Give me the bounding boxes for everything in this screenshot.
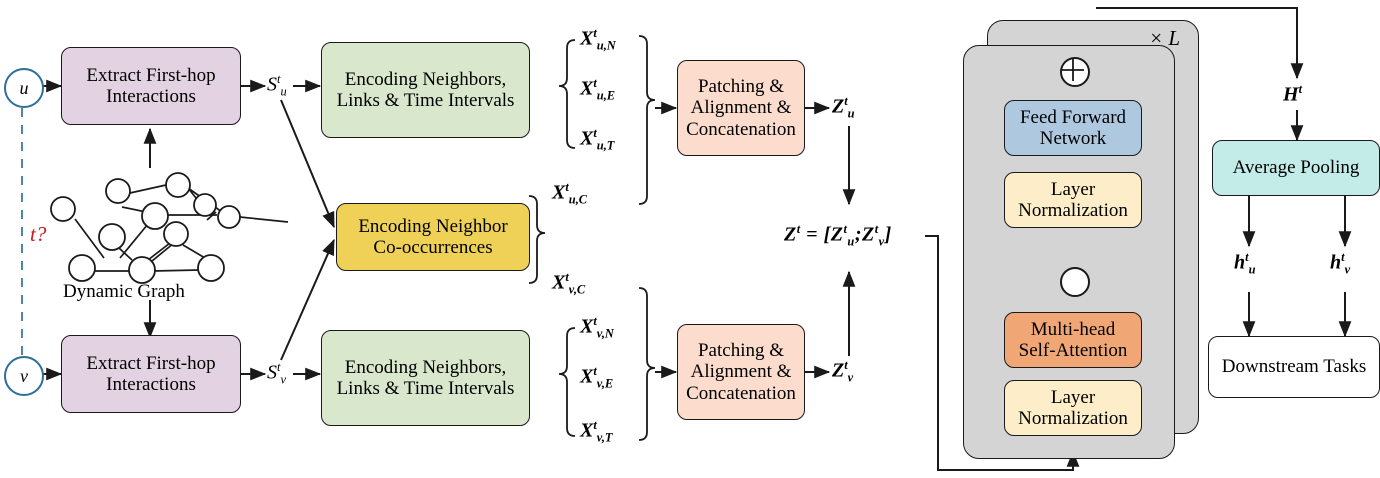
feature-x-u-t-symbol: X [580, 128, 593, 150]
s-u-label: Stu [267, 72, 287, 100]
node-v: v [4, 356, 44, 396]
feature-x-u-c: Xtu,C [552, 180, 587, 208]
feature-x-u-c-symbol: X [552, 182, 565, 204]
h-output-symbol: H [1283, 84, 1299, 106]
extract-first-hop-u-box[interactable]: Extract First-hop Interactions [61, 47, 241, 125]
encoding-cooccurrences-box[interactable]: Encoding Neighbor Co-occurrences [336, 203, 530, 271]
layer-normalization-bottom-label: Layer Normalization [1005, 387, 1141, 430]
time-query-label: t? [30, 222, 46, 247]
encoding-neighbors-u-box[interactable]: Encoding Neighbors, Links & Time Interva… [321, 42, 530, 138]
feature-x-v-c-symbol: X [552, 272, 565, 294]
node-u-label: u [20, 78, 29, 99]
feature-x-v-c: Xtv,C [552, 270, 585, 298]
feature-x-u-n: Xtu,N [580, 26, 616, 54]
s-v-label: Stv [267, 360, 286, 388]
layer-normalization-bottom-box[interactable]: Layer Normalization [1004, 380, 1142, 436]
architecture-diagram: u v t? Dynamic Graph Extract First-hop I… [0, 0, 1380, 478]
h-v-label: htv [1330, 250, 1350, 278]
z-concat-zv: Z [862, 224, 875, 246]
z-concat-expression: Zt = [Ztu;Ztv] [784, 222, 892, 250]
patching-u-label: Patching & Alignment & Concatenation [678, 76, 804, 140]
dynamic-graph-caption: Dynamic Graph [63, 281, 185, 303]
feature-x-v-n: Xtv,N [580, 314, 614, 342]
transformer-repeat-label: × L [1149, 26, 1180, 51]
z-concat-zu: Z [831, 224, 844, 246]
feature-x-v-c-sub: v,C [569, 283, 585, 297]
extract-first-hop-v-box[interactable]: Extract First-hop Interactions [61, 335, 241, 413]
z-u-label: Ztu [832, 94, 855, 122]
feature-x-v-t-sub: v,T [597, 431, 613, 445]
z-v-sub: v [848, 371, 854, 385]
feature-x-v-t-symbol: X [580, 420, 593, 442]
dynamic-graph-edges [75, 185, 288, 271]
encoding-neighbors-u-label: Encoding Neighbors, Links & Time Interva… [322, 69, 529, 112]
multi-head-self-attention-label: Multi-head Self-Attention [1005, 319, 1141, 362]
patching-alignment-u-box[interactable]: Patching & Alignment & Concatenation [677, 60, 805, 156]
s-u-sub: u [280, 85, 286, 99]
z-concat-semi: ; [855, 224, 862, 246]
feature-x-u-e: Xtu,E [580, 76, 615, 104]
s-v-sub: v [280, 373, 286, 387]
feature-x-u-e-symbol: X [580, 78, 593, 100]
feed-forward-network-label: Feed Forward Network [1005, 107, 1141, 150]
extract-first-hop-v-label: Extract First-hop Interactions [62, 353, 240, 396]
feature-x-v-n-sub: v,N [597, 327, 614, 341]
multi-head-self-attention-box[interactable]: Multi-head Self-Attention [1004, 312, 1142, 368]
encoding-neighbors-v-box[interactable]: Encoding Neighbors, Links & Time Interva… [321, 330, 530, 426]
h-u-symbol: h [1234, 252, 1245, 274]
feature-x-v-e-symbol: X [580, 366, 593, 388]
average-pooling-label: Average Pooling [1227, 157, 1366, 178]
feature-x-v-t: Xtv,T [580, 418, 613, 446]
patching-v-label: Patching & Alignment & Concatenation [678, 340, 804, 404]
downstream-tasks-box[interactable]: Downstream Tasks [1208, 336, 1380, 398]
h-output-sup: t [1299, 82, 1302, 96]
average-pooling-box[interactable]: Average Pooling [1212, 140, 1380, 196]
z-v-symbol: Z [832, 360, 844, 382]
z-concat-sup: t [797, 222, 801, 236]
feature-x-v-e: Xtv,E [580, 364, 613, 392]
node-v-label: v [20, 366, 28, 387]
patching-alignment-v-box[interactable]: Patching & Alignment & Concatenation [677, 324, 805, 420]
z-u-symbol: Z [832, 96, 844, 118]
h-u-label: htu [1234, 250, 1255, 278]
feature-x-u-e-sub: u,E [597, 89, 615, 103]
z-concat-bracket: ] [885, 224, 892, 246]
z-concat-z: Z [784, 224, 797, 246]
residual-add-lower-icon [1060, 267, 1090, 297]
extract-first-hop-u-label: Extract First-hop Interactions [62, 65, 240, 108]
h-output-label: Ht [1283, 82, 1302, 107]
feature-x-u-t: Xtu,T [580, 126, 614, 154]
feed-forward-network-box[interactable]: Feed Forward Network [1004, 100, 1142, 156]
encoding-cooccurrences-label: Encoding Neighbor Co-occurrences [337, 216, 529, 259]
feature-x-u-n-sub: u,N [597, 39, 616, 53]
layer-normalization-top-box[interactable]: Layer Normalization [1004, 172, 1142, 228]
feature-x-u-c-sub: u,C [569, 193, 587, 207]
h-v-symbol: h [1330, 252, 1341, 274]
h-u-sub: u [1249, 263, 1256, 277]
s-u-symbol: S [267, 74, 277, 96]
encoding-neighbors-v-label: Encoding Neighbors, Links & Time Interva… [322, 357, 529, 400]
feature-x-v-n-symbol: X [580, 316, 593, 338]
layer-normalization-top-label: Layer Normalization [1005, 179, 1141, 222]
residual-add-upper-icon [1060, 57, 1090, 87]
h-v-sub: v [1345, 263, 1351, 277]
z-u-sub: u [848, 107, 855, 121]
node-u: u [4, 68, 44, 108]
z-v-label: Ztv [832, 358, 853, 386]
feature-x-v-e-sub: v,E [597, 377, 613, 391]
z-concat-eq: = [ [806, 224, 831, 246]
s-v-symbol: S [267, 362, 277, 384]
feature-x-u-t-sub: u,T [597, 139, 615, 153]
z-concat-zu-sub: u [847, 235, 854, 249]
feature-x-u-n-symbol: X [580, 28, 593, 50]
downstream-tasks-label: Downstream Tasks [1216, 356, 1373, 377]
